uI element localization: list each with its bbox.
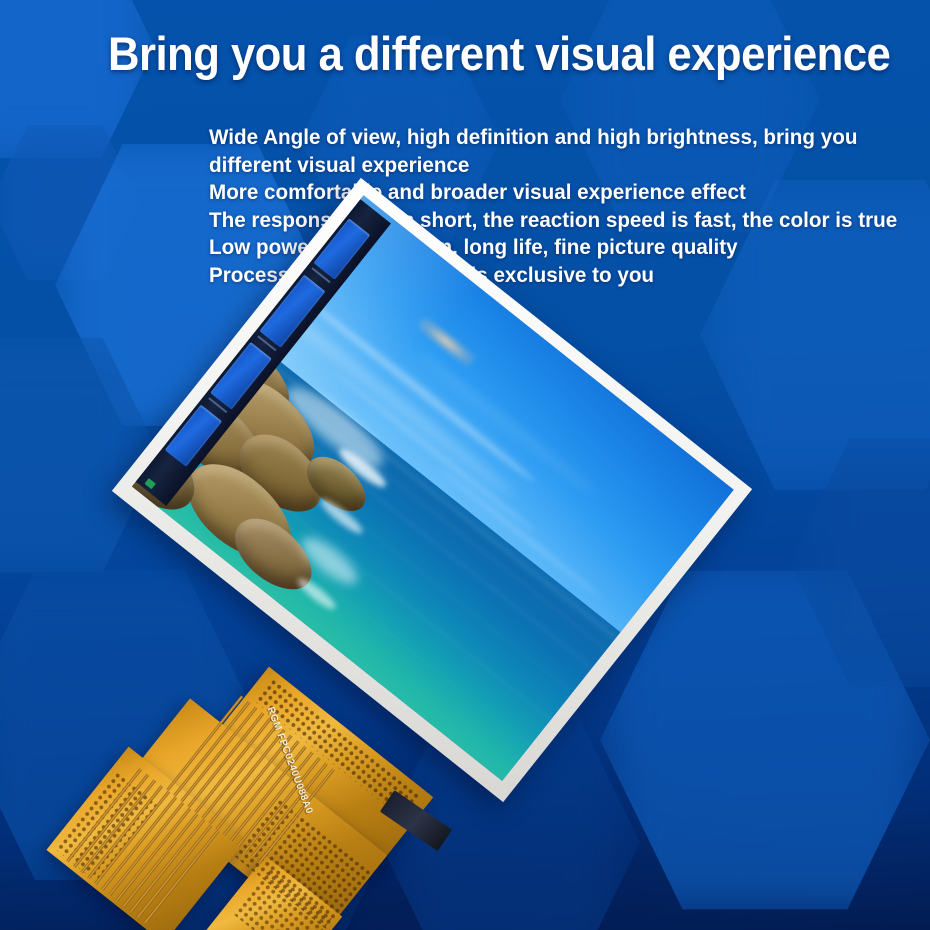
feature-line: different visual experience [209, 152, 900, 180]
page-title: Bring you a different visual experience [108, 26, 890, 81]
feature-line: The response time is short, the reaction… [209, 207, 900, 235]
feature-line: Wide Angle of view, high definition and … [209, 124, 900, 152]
product-banner: Bring you a different visual experience … [0, 0, 930, 930]
feature-line: More comfortable and broader visual expe… [209, 179, 900, 207]
capacitor-component [145, 478, 156, 489]
